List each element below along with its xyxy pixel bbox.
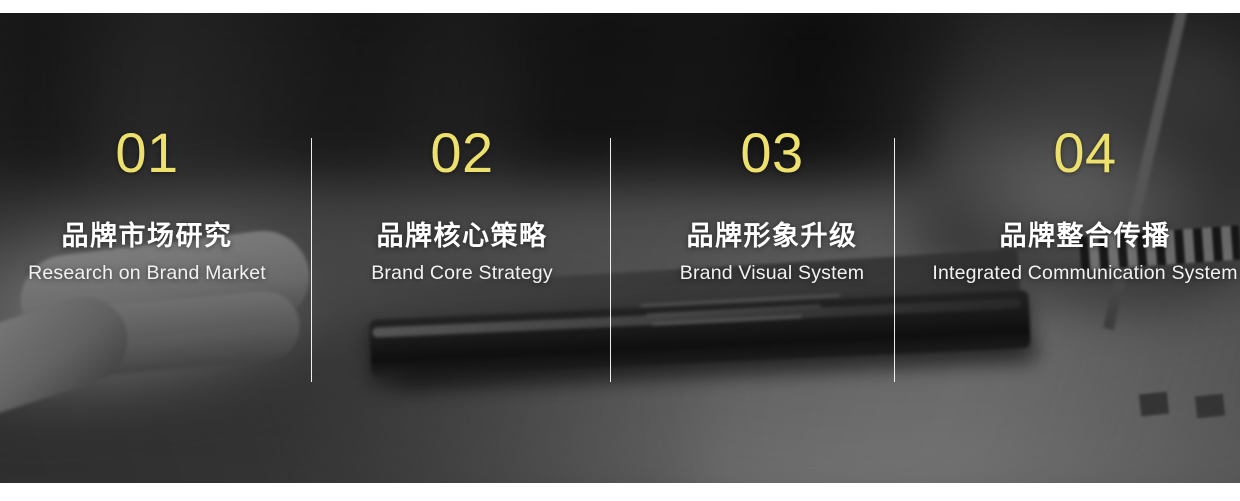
step-divider-2: [610, 138, 611, 382]
process-step-01[interactable]: 01 品牌市场研究 Research on Brand Market: [0, 13, 310, 483]
step-title-cn: 品牌市场研究: [62, 221, 233, 251]
step-title-en: Research on Brand Market: [28, 261, 266, 285]
step-number: 04: [1053, 125, 1116, 181]
step-number: 03: [740, 125, 803, 181]
step-title-en: Integrated Communication System: [932, 261, 1237, 285]
process-step-02[interactable]: 02 品牌核心策略 Brand Core Strategy: [310, 13, 620, 483]
step-title-cn: 品牌形象升级: [686, 221, 857, 251]
step-divider-1: [311, 138, 312, 382]
brand-process-banner: 01 品牌市场研究 Research on Brand Market 02 品牌…: [0, 0, 1240, 501]
step-divider-3: [894, 138, 895, 382]
step-number: 02: [430, 125, 493, 181]
step-title-en: Brand Core Strategy: [371, 261, 553, 285]
process-step-04[interactable]: 04 品牌整合传播 Integrated Communication Syste…: [930, 13, 1240, 483]
step-text-stack: 01 品牌市场研究 Research on Brand Market: [28, 125, 266, 285]
process-step-list: 01 品牌市场研究 Research on Brand Market 02 品牌…: [0, 13, 1240, 483]
process-step-03[interactable]: 03 品牌形象升级 Brand Visual System: [620, 13, 930, 483]
step-text-stack: 03 品牌形象升级 Brand Visual System: [680, 125, 864, 285]
step-title-en: Brand Visual System: [680, 261, 864, 285]
top-white-band: [0, 0, 1240, 13]
step-title-cn: 品牌核心策略: [377, 221, 548, 251]
bottom-white-band: [0, 483, 1240, 501]
step-title-cn: 品牌整合传播: [1000, 221, 1171, 251]
step-text-stack: 02 品牌核心策略 Brand Core Strategy: [371, 125, 553, 285]
step-text-stack: 04 品牌整合传播 Integrated Communication Syste…: [932, 125, 1237, 285]
step-number: 01: [115, 125, 178, 181]
